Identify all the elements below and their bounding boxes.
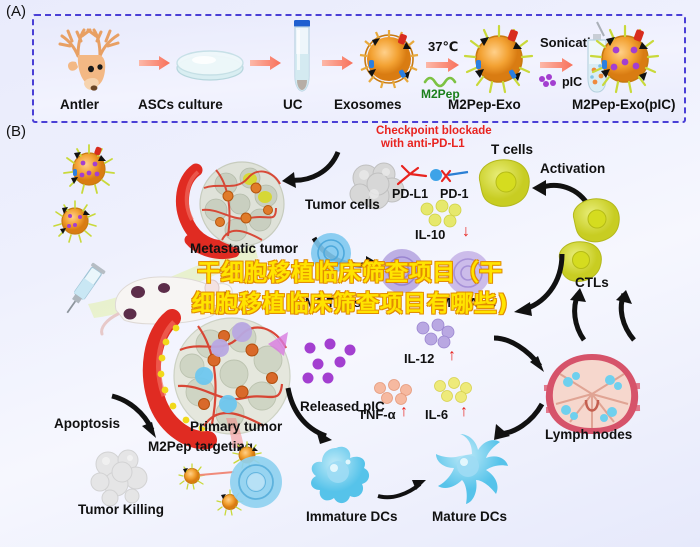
m2pep-exosome-icon [464,24,534,94]
temperature-label: 37℃ [428,40,458,53]
tnfa-up-arrow-icon: ↑ [400,404,408,420]
flow-arrow-icon [280,146,342,188]
mature-dc-icon [432,432,514,510]
m2pep-peptide-icon [424,74,462,86]
il12-cytokine-icon [414,320,458,350]
t-cells-label: T cells [491,143,533,157]
mature-dcs-label: Mature DCs [432,510,507,524]
process-arrow-icon [426,58,460,72]
il6-label: IL-6 [425,408,448,421]
m2pep-exosome-pic-icon [590,24,660,94]
centrifuge-tube-icon [286,20,318,94]
m2-tam-cell-icon [374,246,430,296]
panel-a-tag: (A) [6,4,26,19]
pd-1-label: PD-1 [440,188,468,201]
il10-cytokine-icon [418,200,466,230]
pd-l1-label: PD-L1 [392,188,428,201]
released-pic-icon [300,338,364,386]
deer-antler-icon [48,22,140,94]
figure-canvas: (A) (B) [0,0,700,547]
immature-dcs-label: Immature DCs [306,510,398,524]
tumor-killing-label: Tumor Killing [78,503,164,517]
flow-arrow-icon [604,290,648,346]
step-label-ascs-culture: ASCs culture [138,98,223,112]
tnfa-cytokine-icon [372,380,416,408]
lymph-nodes-label: Lymph nodes [545,428,632,442]
spacer [288,388,292,392]
petri-dish-icon [174,44,246,84]
m2-tams-label: M2 TAMs [305,296,361,309]
immature-dc-icon [300,438,376,510]
step-label-exosomes: Exosomes [334,98,402,112]
exosome-icon [356,26,422,92]
tnfa-label: TNF-α [358,408,396,421]
process-arrow-icon [139,56,171,70]
tumor-killing-icon [82,442,158,510]
il12-label: IL-12 [404,352,434,365]
tumor-cells-label: Tumor cells [305,198,380,212]
flow-arrow-icon [494,390,550,438]
il10-down-arrow-icon: ↓ [462,224,470,240]
flow-arrow-icon [492,334,552,376]
activation-label: Activation [540,162,605,176]
step-label-m2pep-exo: M2Pep-Exo [448,98,521,112]
panel-b-tag: (B) [6,124,26,139]
il12-up-arrow-icon: ↑ [448,348,456,364]
flow-arrow-icon [376,478,432,504]
apoptosis-label: Apoptosis [54,417,120,431]
process-arrow-icon [540,58,574,72]
process-arrow-icon [250,56,282,70]
primary-tumor-label: Primary tumor [190,420,282,434]
checkpoint-blockade-line1: Checkpoint blockade [376,126,492,138]
panel-a-container: 37℃ M2Pep [32,14,686,123]
metastatic-tumor-label: Metastatic tumor [190,242,298,256]
m2pep-exosome-pic-icon [62,142,116,196]
m2-tam-cell-icon [224,452,288,512]
flow-arrow-icon [284,386,344,444]
step-label-uc: UC [283,98,303,112]
step-label-antler: Antler [60,98,99,112]
il6-up-arrow-icon: ↑ [460,404,468,420]
checkpoint-blockade-line2: with anti-PD-L1 [381,139,465,151]
process-arrow-icon [322,56,354,70]
pic-molecule-icon [538,74,558,88]
il6-cytokine-icon [432,378,476,406]
flow-arrow-icon [548,288,592,346]
m2-tam-cell-icon [306,230,356,276]
t-cell-icon [470,156,536,212]
il10-label: IL-10 [415,228,445,241]
step-label-m2pep-exo-pic: M2Pep-Exo(pIC) [572,98,676,112]
